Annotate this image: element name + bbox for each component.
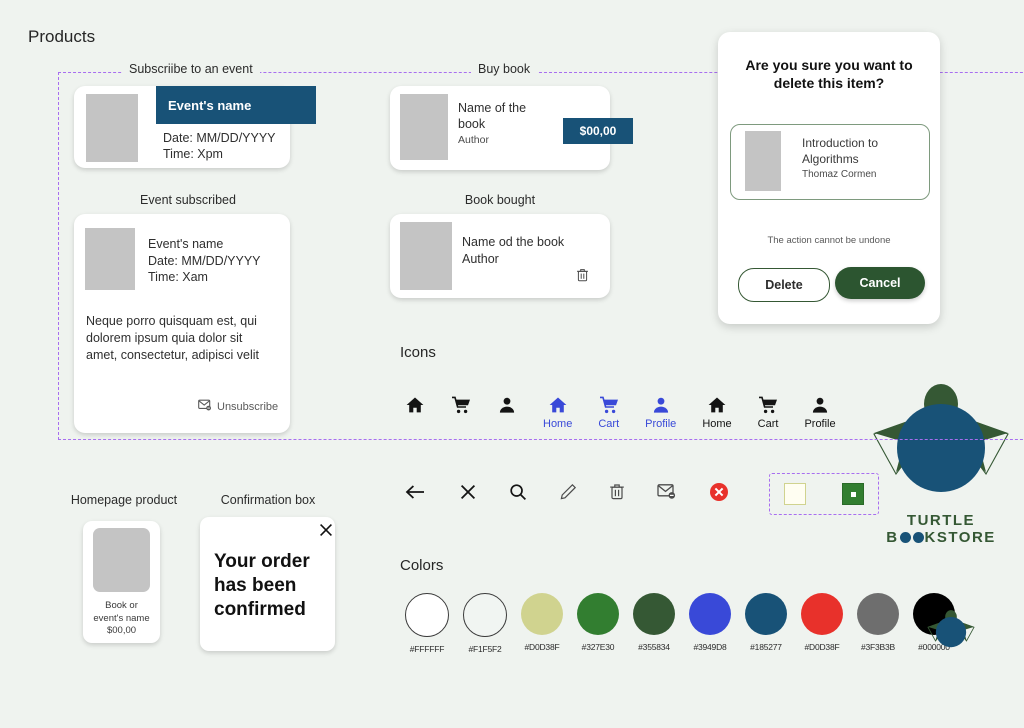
homepage-product-price: $00,00 [84,625,159,638]
color-swatch-cell[interactable]: #D0D38F [801,593,843,654]
homepage-product-line2: event's name [84,613,159,626]
event-subscribed-thumbnail [85,228,135,290]
turtle-icon [925,608,977,652]
color-swatch [463,593,507,637]
page-title: Products [28,27,95,47]
icon-label: Profile [804,418,835,430]
home-icon [707,395,727,415]
trash-icon[interactable] [576,268,589,287]
delete-button[interactable]: Delete [738,268,830,302]
cart-icon-cell[interactable]: Cart [598,395,619,430]
color-swatch [689,593,731,635]
book-thumbnail [400,94,448,160]
color-swatch [405,593,449,637]
book-bought-author: Author [462,251,564,268]
checkbox-group [769,473,879,515]
event-subscribed-date: Date: MM/DD/YYYY [148,253,261,270]
error-circle-icon[interactable] [709,482,729,507]
color-hex-label: #D0D38F [525,642,560,652]
dialog-item-author: Thomaz Cormen [802,167,922,183]
close-x-icon[interactable] [459,483,477,506]
color-hex-label: #D0D38F [805,642,840,652]
color-swatch [857,593,899,635]
cart-icon-cell[interactable]: Cart [758,395,779,430]
mail-unsubscribe-icon[interactable] [657,483,677,505]
profile-icon [497,395,517,415]
color-swatch [801,593,843,635]
dialog-item-thumbnail [745,131,781,191]
event-name-banner: Event's name [156,86,316,124]
icon-label: Cart [598,418,619,430]
wordmark-b: B [886,529,898,546]
turtle-logo-large [866,378,1016,511]
icon-label: Home [702,418,731,430]
wordmark-line-bottom: B KSTORE [866,529,1016,546]
dialog-item-title: Introduction to Algorithms [802,136,922,167]
color-hex-label: #185277 [750,642,782,652]
color-swatch-cell[interactable]: #185277 [745,593,787,654]
color-swatch-cell[interactable]: #F1F5F2 [463,593,507,654]
icons-section-title: Icons [400,344,436,361]
color-swatch [745,593,787,635]
logo-wordmark: TURTLE B KSTORE [866,512,1016,546]
wordmark-o-dot [900,532,911,543]
trash-icon[interactable] [609,483,625,505]
color-swatch-cell[interactable]: #3F3B3B [857,593,899,654]
dialog-item-text: Introduction to Algorithms Thomaz Cormen [802,136,922,183]
color-swatch-cell[interactable]: #327E30 [577,593,619,654]
home-icon-cell[interactable] [405,395,425,418]
color-hex-label: #FFFFFF [410,644,444,654]
icon-row-navigation: Home Cart Profile Home Cart Profil [405,395,836,430]
wordmark-line-top: TURTLE [866,512,1016,529]
caption-event-subscribed: Event subscribed [78,193,298,207]
cart-icon-cell[interactable] [451,395,471,418]
home-icon [405,395,425,415]
checkbox-unchecked[interactable] [784,483,806,505]
profile-icon-cell[interactable]: Profile [645,395,676,430]
turtle-logo-small [925,608,977,657]
icon-label: Profile [645,418,676,430]
cart-icon [599,395,619,415]
icon-row-actions [405,473,879,515]
color-swatch [521,593,563,635]
event-subscribed-name: Event's name [148,236,261,253]
back-arrow-icon[interactable] [405,483,427,506]
event-time: Time: Xpm [163,146,276,162]
event-thumbnail [86,94,138,162]
event-subscribed-time: Time: Xam [148,269,261,286]
profile-icon-cell[interactable] [497,395,517,418]
unsubscribe-button[interactable]: Unsubscribe [198,399,278,414]
event-datetime: Date: MM/DD/YYYY Time: Xpm [163,130,276,162]
icon-label: Home [543,418,572,430]
book-bought-info: Name od the book Author [462,234,564,267]
edit-pencil-icon[interactable] [559,483,577,506]
caption-confirmation-box: Confirmation box [198,493,338,507]
homepage-product-line1: Book or [84,600,159,613]
close-x-icon[interactable] [317,521,335,539]
color-swatch-cell[interactable]: #D0D38F [521,593,563,654]
color-hex-label: #F1F5F2 [468,644,501,654]
cancel-button[interactable]: Cancel [835,267,925,299]
color-hex-label: #3F3B3B [861,642,895,652]
book-bought-thumbnail [400,222,452,290]
dialog-title: Are you sure you want to delete this ite… [740,56,918,92]
icon-label: Cart [758,418,779,430]
buy-book-info: Name of the book Author [458,100,554,148]
profile-icon [810,395,830,415]
color-palette: #FFFFFF #F1F5F2 #D0D38F #327E30 #355834 … [405,593,955,654]
event-date: Date: MM/DD/YYYY [163,130,276,146]
color-hex-label: #327E30 [582,642,615,652]
home-icon-cell[interactable]: Home [543,395,572,430]
price-badge[interactable]: $00,00 [563,118,633,144]
wordmark-kstore: KSTORE [925,529,996,546]
event-subscribed-info: Event's name Date: MM/DD/YYYY Time: Xam [148,236,261,286]
home-icon-cell[interactable]: Home [702,395,731,430]
homepage-product-text: Book or event's name $00,00 [84,600,159,638]
colors-section-title: Colors [400,557,443,574]
dialog-note: The action cannot be undone [740,235,918,246]
frame-label-buy-book: Buy book [471,62,537,76]
book-author: Author [458,132,554,148]
profile-icon-cell[interactable]: Profile [804,395,835,430]
turtle-icon [866,378,1016,506]
frame-label-subscribe: Subscriibe to an event [122,62,260,76]
book-title: Name of the book [458,100,554,132]
book-bought-title: Name od the book [462,234,564,251]
profile-icon [651,395,671,415]
caption-book-bought: Book bought [410,193,590,207]
unsubscribe-label: Unsubscribe [217,401,278,413]
color-swatch [633,593,675,635]
cart-icon [758,395,778,415]
color-swatch-cell[interactable]: #FFFFFF [405,593,449,654]
homepage-product-thumbnail [93,528,150,592]
checkbox-checked[interactable] [842,483,864,505]
color-swatch-cell[interactable]: #3949D8 [689,593,731,654]
color-swatch [577,593,619,635]
color-swatch-cell[interactable]: #355834 [633,593,675,654]
search-icon[interactable] [509,483,527,506]
home-icon [548,395,568,415]
cart-icon [451,395,471,415]
wordmark-o-dot [913,532,924,543]
color-hex-label: #3949D8 [693,642,726,652]
caption-homepage-product: Homepage product [60,493,188,507]
mail-unsubscribe-icon [198,399,212,414]
color-hex-label: #355834 [638,642,670,652]
confirmation-message: Your order has been confirmed [214,550,326,622]
event-subscribed-description: Neque porro quisquam est, qui dolorem ip… [86,313,276,364]
